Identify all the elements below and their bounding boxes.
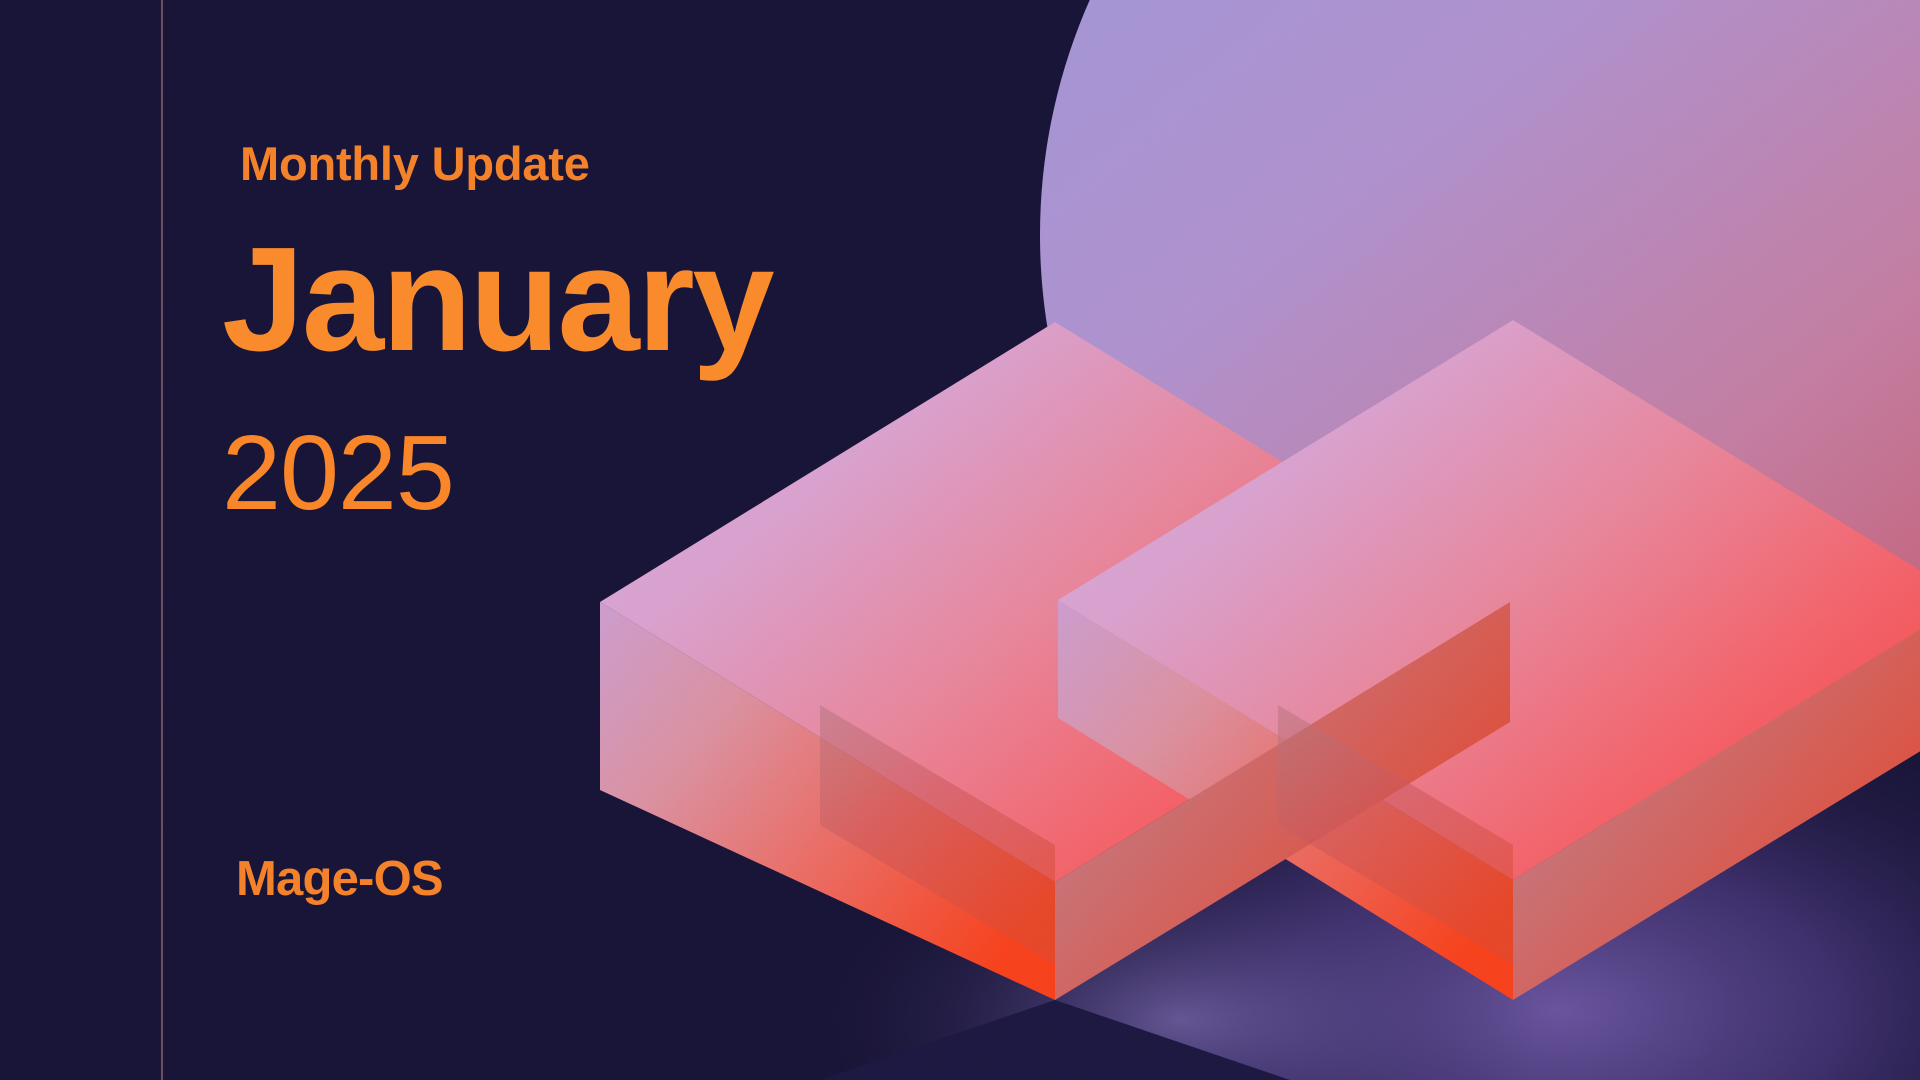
brand-label: Mage-OS [236,855,443,904]
kicker-label: Monthly Update [240,140,590,187]
year-label: 2025 [222,420,454,526]
slide-canvas: Monthly Update January 2025 Mage-OS [0,0,1920,1080]
vertical-divider-line [161,0,163,1080]
page-title: January [222,226,772,374]
title-block: Monthly Update January 2025 Mage-OS [0,0,900,1080]
